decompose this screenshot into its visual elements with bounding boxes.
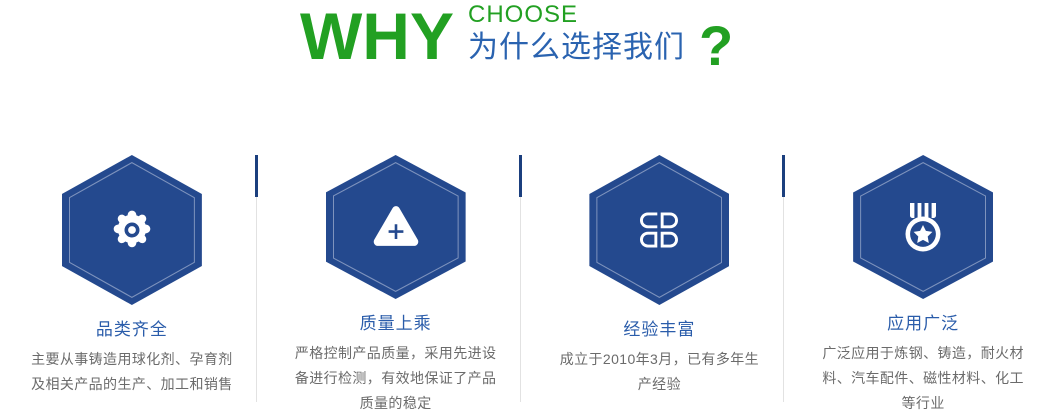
feature-desc-1: 主要从事铸造用球化剂、孕育剂及相关产品的生产、加工和销售 [24,347,239,397]
divider-light-segment [520,197,521,402]
feature-title-1: 品类齐全 [96,319,168,341]
feature-title-4: 应用广泛 [887,313,959,335]
heading-chinese-title: 为什么选择我们 [468,30,685,66]
feature-column-1: 品类齐全 主要从事铸造用球化剂、孕育剂及相关产品的生产、加工和销售 [0,140,264,416]
heading-why: WHY [300,0,454,72]
heading-choose: CHOOSE [468,2,685,28]
clover-icon [589,155,729,305]
heading-middle-stack: CHOOSE 为什么选择我们 [468,2,685,66]
gear-icon [62,155,202,305]
feature-column-2: 质量上乘 严格控制产品质量，采用先进设备进行检测，有效地保证了产品质量的稳定 [264,140,528,416]
divider-light-segment [783,197,784,402]
column-divider-2 [519,155,522,405]
column-divider-3 [782,155,785,405]
medal-icon [853,155,993,299]
hexagon-badge-3 [589,155,729,305]
feature-column-4: 应用广泛 广泛应用于炼钢、铸造，耐火材料、汽车配件、磁性材料、化工等行业 [791,140,1055,416]
feature-desc-2: 严格控制产品质量，采用先进设备进行检测，有效地保证了产品质量的稳定 [288,341,503,416]
divider-light-segment [256,197,257,402]
hexagon-badge-1 [62,155,202,305]
feature-columns: 品类齐全 主要从事铸造用球化剂、孕育剂及相关产品的生产、加工和销售 质量上乘 严… [0,140,1055,416]
column-divider-1 [255,155,258,405]
divider-dark-segment [519,155,522,197]
hexagon-badge-4 [853,155,993,299]
divider-dark-segment [255,155,258,197]
feature-desc-4: 广泛应用于炼钢、铸造，耐火材料、汽车配件、磁性材料、化工等行业 [816,341,1031,416]
feature-desc-3: 成立于2010年3月，已有多年生产经验 [559,347,759,397]
section-heading: WHY CHOOSE 为什么选择我们 ? [0,0,1055,96]
triangle-plus-icon [326,155,466,299]
heading-inner: WHY CHOOSE 为什么选择我们 ? [300,0,733,76]
feature-title-2: 质量上乘 [360,313,432,335]
feature-title-3: 经验丰富 [623,319,695,341]
divider-dark-segment [782,155,785,197]
feature-column-3: 经验丰富 成立于2010年3月，已有多年生产经验 [528,140,792,416]
hexagon-badge-2 [326,155,466,299]
heading-question-mark: ? [699,16,733,76]
